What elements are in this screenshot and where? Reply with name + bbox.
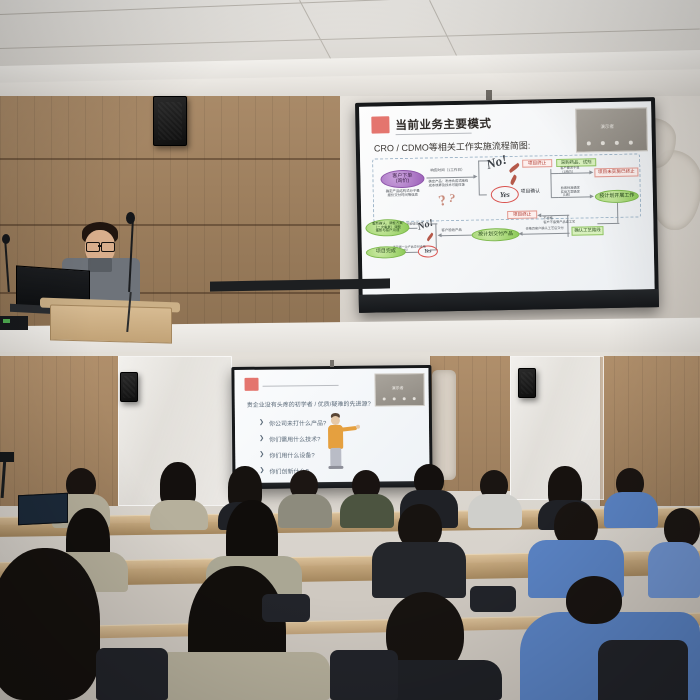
slide-title-underline <box>263 385 339 387</box>
slide-title: 当前业务主要模式 <box>395 115 491 133</box>
audience-laptop[interactable] <box>18 493 68 526</box>
chair <box>330 650 398 700</box>
slide-accent-square <box>371 116 389 133</box>
slide-current-business-model: 当前业务主要模式 CRO / CDMO等相关工作实施流程简图: 演示者 客户下单… <box>359 101 655 295</box>
secondary-projection-screen[interactable]: 演示者 贵企业没有头疼的初学者 / 优质/疑难的先进源? ❯ 你公司未打什么产品… <box>231 365 432 489</box>
flow-node-terminate-row2[interactable]: 项目终止 <box>507 210 537 219</box>
pip-control-dot[interactable] <box>393 397 396 400</box>
slide-questions: 演示者 贵企业没有头疼的初学者 / 优质/疑难的先进源? ❯ 你公司未打什么产品… <box>234 368 429 486</box>
flow-row2-note-a: 不合格 客户不接受产品或工艺 <box>543 217 575 225</box>
chair <box>262 594 310 622</box>
lower-wood-paneling-left <box>0 356 118 506</box>
person-torso <box>468 494 522 528</box>
flow-node-project-complete[interactable]: 项目完成 <box>366 246 406 259</box>
microphone-head <box>2 234 10 244</box>
pip-caption: 演示者 <box>600 124 614 130</box>
pip-caption: 演示者 <box>392 385 404 391</box>
pip-control-dot[interactable] <box>629 141 633 145</box>
lecture-hall-photo: 当前业务主要模式 CRO / CDMO等相关工作实施流程简图: 演示者 客户下单… <box>0 0 700 700</box>
person-torso <box>340 494 394 528</box>
column-texture-patch <box>432 370 456 480</box>
main-projection-screen[interactable]: 当前业务主要模式 CRO / CDMO等相关工作实施流程简图: 演示者 客户下单… <box>355 97 659 313</box>
flow-edge-note-1: 确定产品：考虑合成式路线 成本核算及技术可能性等 <box>429 180 469 188</box>
pip-control-dot[interactable] <box>413 397 416 400</box>
flow-node-not-implemented-terminated[interactable]: 项目未实施已终止 <box>594 167 638 177</box>
projector-mount <box>330 360 334 367</box>
bullet-arrow-icon: ❯ <box>259 435 264 442</box>
left-wall-speaker <box>120 372 138 402</box>
pip-control-dot[interactable] <box>383 397 386 400</box>
person-torso <box>604 492 658 528</box>
slide-subtitle: CRO / CDMO等相关工作实施流程简图: <box>374 139 531 155</box>
slide-title-underline <box>396 133 472 135</box>
flow-branch-note-2: 验收标准确定 实验方案确定 （1周） <box>561 187 580 198</box>
flow-swoosh-marker <box>426 233 434 242</box>
bullet-item: 你公司未打什么产品? <box>269 418 326 428</box>
bullet-item: 你们需用什么技术? <box>269 434 320 444</box>
lower-wood-paneling-right <box>600 356 700 506</box>
presenter-collar <box>88 258 112 272</box>
flow-node-rework-plan[interactable]: 重新确认、调整方案 （二次重复）调整 重新与客户沟通 <box>365 219 409 237</box>
right-wall-speaker <box>518 368 536 398</box>
person-torso <box>648 542 700 598</box>
podium <box>50 304 172 343</box>
pip-control-dot[interactable] <box>601 141 605 145</box>
bullet-arrow-icon: ❯ <box>259 467 264 474</box>
flow-branch-note-1: 客户要求不变 （1周内） <box>560 167 579 174</box>
bullet-arrow-icon: ❯ <box>259 451 264 458</box>
flow-node-deliver-as-planned[interactable]: 按计划交付产品 <box>471 228 519 242</box>
microphone-head <box>126 212 135 224</box>
flow-node-project-confirmed[interactable]: 项目确认 <box>521 189 540 195</box>
slide-accent-square <box>244 378 258 391</box>
flow-node-project-terminated[interactable]: 项目终止 <box>522 159 552 168</box>
presenter-illustration <box>234 368 428 370</box>
person-torso <box>150 652 330 700</box>
glasses-icon <box>86 242 100 252</box>
flow-note-start: 确定产品结构式分子量 报价交付时间等信息 <box>377 190 429 198</box>
bullet-item: 你们用什么设备? <box>269 450 314 459</box>
bullet-arrow-icon: ❯ <box>259 419 264 426</box>
projector-mount <box>486 90 492 100</box>
slide-heading: 贵企业没有头疼的初学者 / 优质/疑难的先进源? <box>247 399 371 409</box>
camera-body <box>0 452 14 462</box>
glasses-bridge <box>98 245 101 247</box>
glasses-icon <box>101 242 115 252</box>
pip-video-panel[interactable]: 演示者 <box>374 373 424 407</box>
pip-video-panel[interactable]: 演示者 <box>575 107 648 152</box>
pip-control-dot[interactable] <box>403 397 406 400</box>
person-hair <box>0 548 100 700</box>
flow-node-confirm-process-route[interactable]: 确认工艺路线 <box>571 226 603 236</box>
chair <box>470 586 516 612</box>
person-head <box>566 576 622 624</box>
chair <box>598 640 688 700</box>
pip-control-dot[interactable] <box>615 141 619 145</box>
chair <box>96 648 168 700</box>
mezzanine-speaker <box>153 96 187 146</box>
person-torso <box>150 500 208 530</box>
flow-edge-label-1: 响应时间（1工作日） <box>430 169 464 174</box>
person-torso <box>278 494 332 528</box>
pip-control-dot[interactable] <box>587 141 591 145</box>
person-torso <box>372 542 466 598</box>
flow-deliver-edge: 客户验收产品 <box>441 229 461 233</box>
status-indicator <box>3 319 10 323</box>
flow-row2-note-b: 合格且客户确认工艺后交付 <box>525 227 563 231</box>
